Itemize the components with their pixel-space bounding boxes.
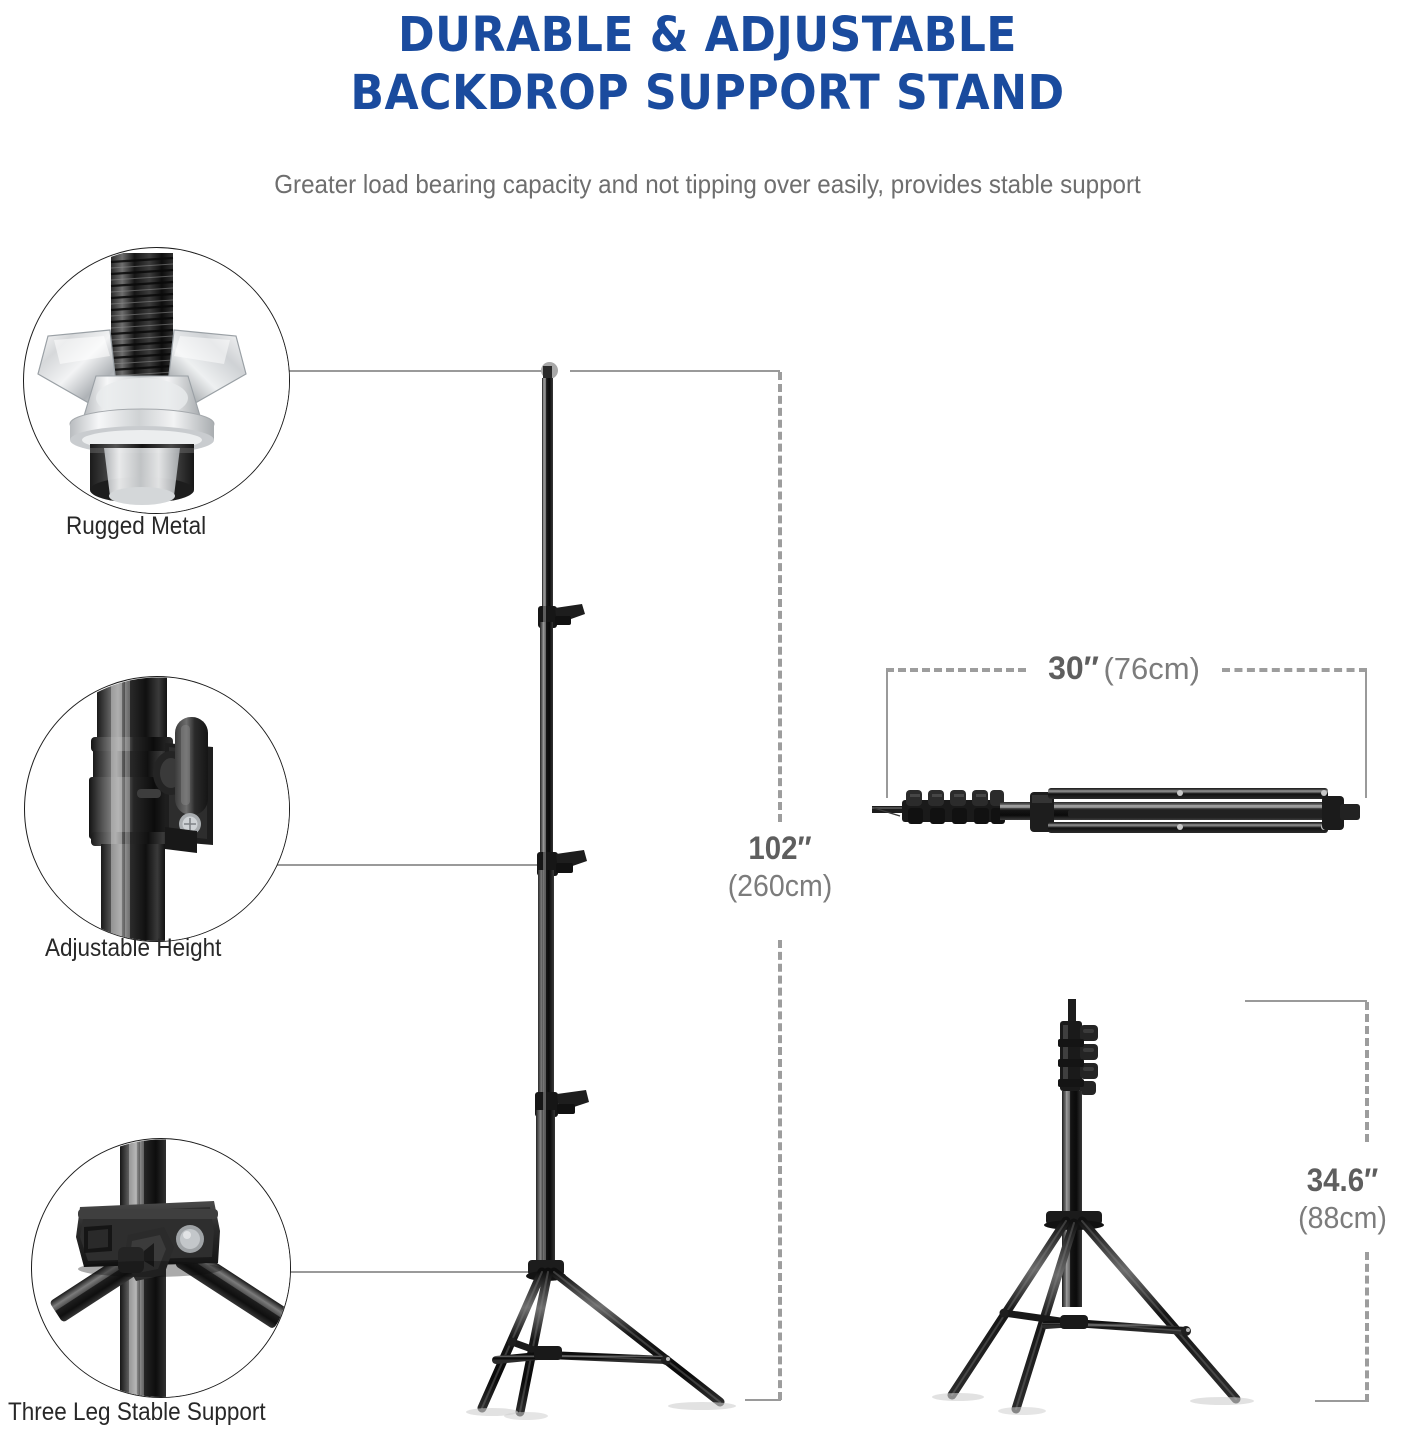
tube-clamp-illustration [25,677,290,942]
dim-extension-top [570,370,780,372]
title-line-2: BACKDROP SUPPORT STAND [57,64,1359,122]
dim-line-upper [778,372,782,822]
dim-label-height-extended: 102″ (260cm) [700,830,860,904]
dim-line-right [1222,668,1367,672]
folded-clamp-levers [902,790,1005,824]
folded-stand-horizontal [872,762,1372,858]
retracted-stand-standing [900,995,1310,1420]
page-subtitle: Greater load bearing capacity and not ti… [50,168,1366,200]
infographic-page: DURABLE & ADJUSTABLE BACKDROP SUPPORT ST… [0,0,1415,1446]
dim-extension-bottom [745,1399,781,1401]
tripod-leg-hub-icon [31,1138,291,1398]
dim-extension-bottom [1315,1400,1367,1402]
callout-label-three-leg: Three Leg Stable Support [8,1398,266,1427]
callout-label-adjustable-height: Adjustable Height [45,934,221,963]
dim-value-cm: (88cm) [1276,1200,1409,1237]
dim-value-cm: (260cm) [706,868,853,905]
tripod-legs-main [482,1272,720,1412]
title-line-1: DURABLE & ADJUSTABLE [57,6,1359,64]
dim-extension-left [886,670,888,798]
dim-label-folded-length: 30″ (76cm) [1026,650,1222,688]
wing-nut-icon [23,247,290,514]
page-title: DURABLE & ADJUSTABLE BACKDROP SUPPORT ST… [0,6,1415,122]
dim-line-lower [1365,1252,1369,1402]
retracted-clamp-stack [1058,1021,1098,1095]
dim-label-height-folded: 34.6″ (88cm) [1270,1162,1415,1236]
dim-value-inches: 102″ [706,830,853,868]
tube-clamp-lever-icon [24,676,290,942]
wing-nut-illustration [24,248,290,514]
callout-label-rugged-metal: Rugged Metal [66,512,206,541]
retracted-stand-illustration [900,995,1310,1420]
dim-line-upper [1365,1002,1369,1142]
dim-value-inches: 34.6″ [1276,1162,1409,1200]
folded-stand-illustration [872,762,1372,858]
tripod-hub-illustration [32,1139,291,1398]
dim-value-cm: (76cm) [1103,651,1199,686]
dim-line-left [886,668,1026,672]
dim-line-lower [778,940,782,1400]
dim-value-inches: 30″ [1048,650,1099,686]
dim-extension-right [1365,670,1367,798]
dim-extension-top [1245,1000,1367,1002]
